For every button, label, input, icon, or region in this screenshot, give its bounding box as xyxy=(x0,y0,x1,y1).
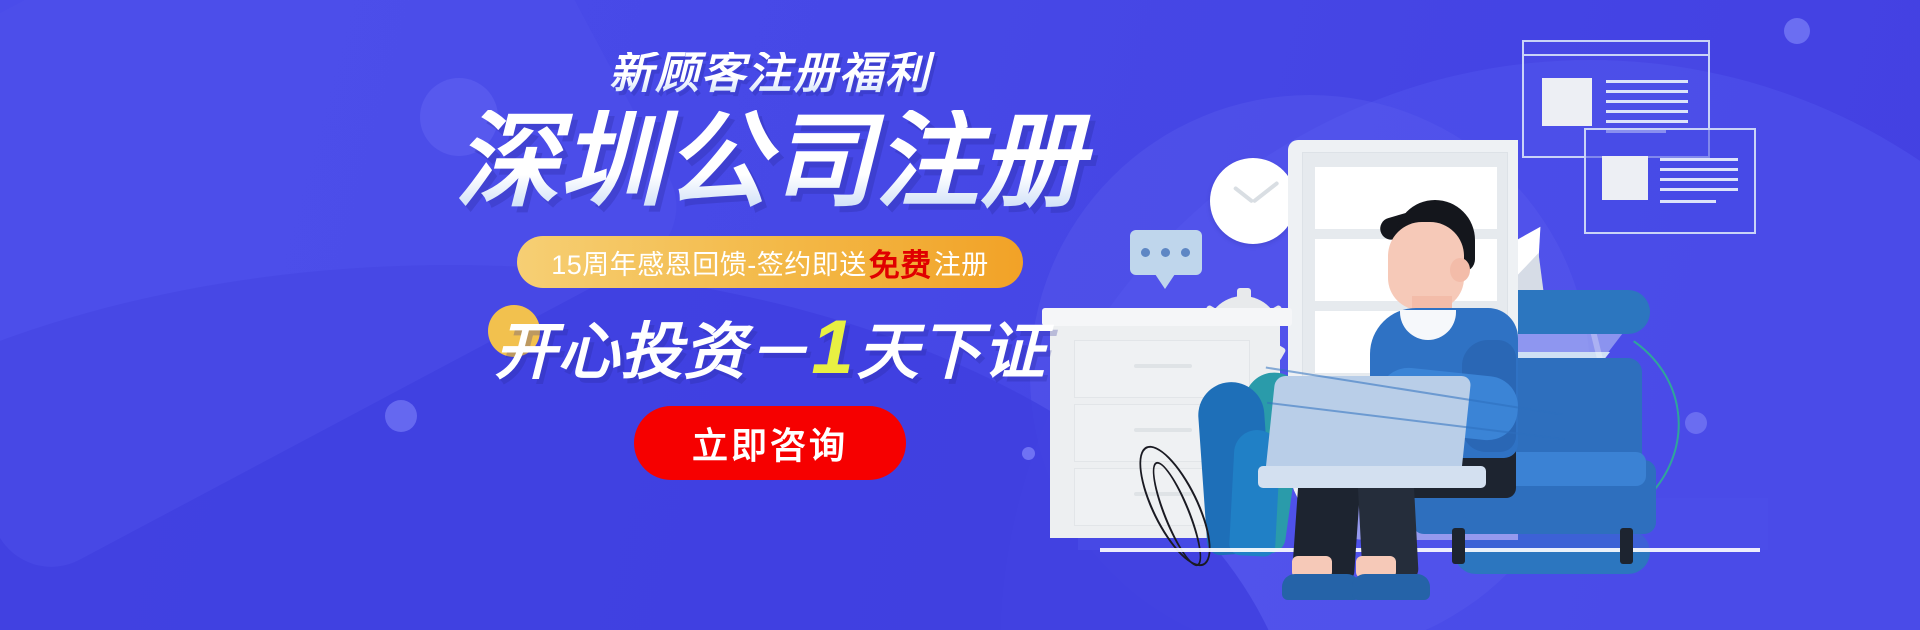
document-card-line xyxy=(1660,178,1738,181)
slogan-number: 1 xyxy=(809,305,856,390)
slogan-suffix: 天下证 xyxy=(857,318,1046,387)
document-card-image xyxy=(1542,78,1592,126)
laptop-base xyxy=(1258,466,1486,488)
clock-icon xyxy=(1210,158,1296,244)
banner-slogan: 开心投资－1天下证 xyxy=(400,310,1140,386)
dresser-handle xyxy=(1134,364,1192,368)
slogan-prefix: 开心投资－ xyxy=(494,318,809,387)
person-shoe xyxy=(1352,574,1430,600)
document-card-icon xyxy=(1584,128,1756,234)
document-card-line xyxy=(1606,80,1688,83)
document-card-line xyxy=(1660,188,1738,191)
document-card-line xyxy=(1606,110,1688,113)
document-card-line xyxy=(1606,120,1688,123)
person-shoe xyxy=(1282,574,1360,600)
banner-copy: 新顾客注册福利 深圳公司注册 15周年感恩回馈-签约即送免费注册 开心投资－1天… xyxy=(400,52,1140,480)
armchair-leg xyxy=(1452,528,1465,564)
hero-illustration xyxy=(1060,0,1920,630)
banner-headline: 深圳公司注册 xyxy=(400,110,1140,214)
document-card-line xyxy=(1606,90,1688,93)
promo-badge-suffix: 注册 xyxy=(934,243,989,282)
promo-badge: 15周年感恩回馈-签约即送免费注册 xyxy=(517,236,1023,288)
banner-eyebrow: 新顾客注册福利 xyxy=(400,52,1140,96)
document-card-line xyxy=(1660,200,1716,203)
document-card-line xyxy=(1606,100,1688,103)
consult-now-button[interactable]: 立即咨询 xyxy=(634,406,906,480)
promo-banner: 新顾客注册福利 深圳公司注册 15周年感恩回馈-签约即送免费注册 开心投资－1天… xyxy=(0,0,1920,630)
document-card-line xyxy=(1660,168,1738,171)
document-card-image xyxy=(1602,156,1648,200)
promo-badge-prefix: 15周年感恩回馈-签约即送 xyxy=(551,243,867,282)
floor-line xyxy=(1100,548,1760,552)
person-ear xyxy=(1450,258,1470,282)
promo-badge-highlight: 免费 xyxy=(867,240,934,285)
document-card-line xyxy=(1660,158,1738,161)
armchair-leg xyxy=(1620,528,1633,564)
laptop-icon xyxy=(1265,376,1472,480)
chat-bubble-icon xyxy=(1130,230,1202,275)
document-card-titlebar xyxy=(1524,42,1708,56)
dresser-handle xyxy=(1134,428,1192,432)
